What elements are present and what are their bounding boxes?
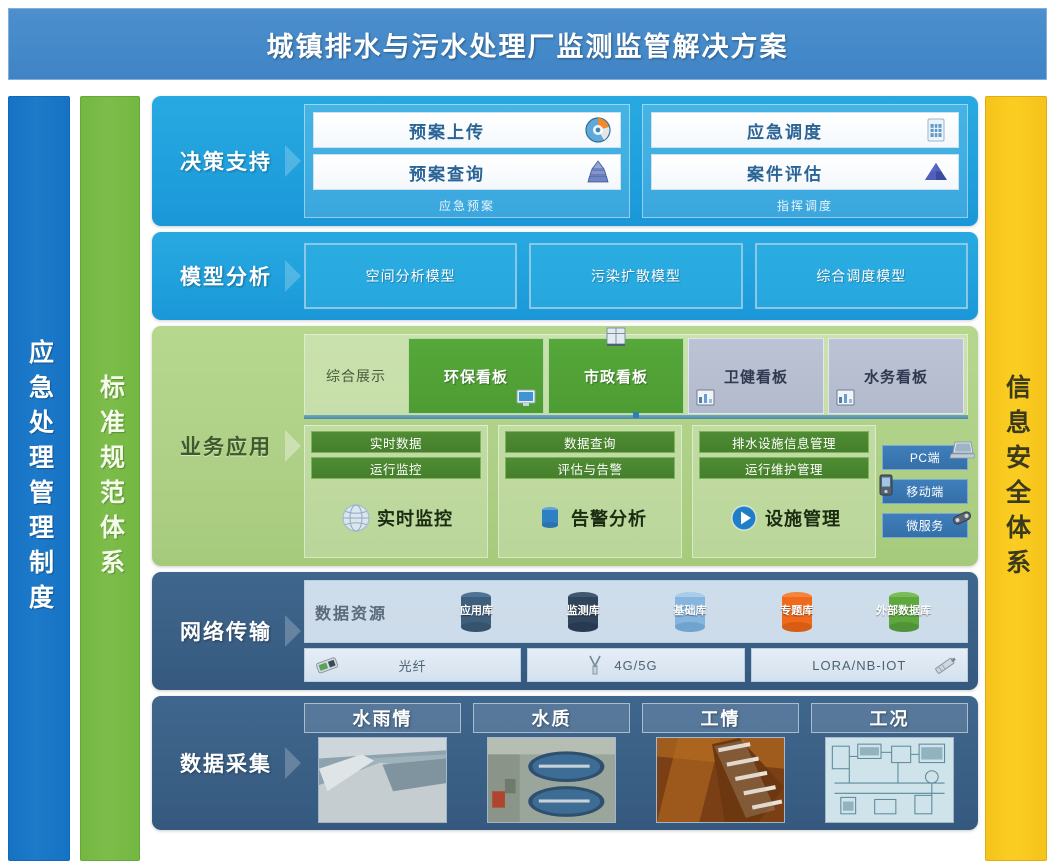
- business-feature-alarm-analysis[interactable]: 告警分析: [505, 483, 675, 552]
- decision-item-case-assessment-label: 案件评估: [747, 160, 823, 185]
- database-monitoring[interactable]: 监测库: [553, 588, 613, 636]
- business-chip-drainage-facility-info[interactable]: 排水设施信息管理: [699, 431, 869, 453]
- business-chip-operation-monitoring[interactable]: 运行监控: [311, 457, 481, 479]
- board-environment-label: 环保看板: [444, 366, 508, 387]
- terminal-mobile-label: 移动端: [906, 483, 944, 500]
- board-divider: [304, 415, 968, 419]
- acquisition-card-water-quality[interactable]: 水质: [473, 703, 630, 823]
- acquisition-card-engineering-label: 工情: [642, 703, 799, 733]
- database-external[interactable]: 外部数据库: [874, 588, 934, 636]
- database-thematic[interactable]: 专题库: [767, 588, 827, 636]
- media-cellular-label: 4G/5G: [614, 658, 657, 673]
- model-item-spatial-analysis[interactable]: 空间分析模型: [304, 243, 517, 309]
- board-environment[interactable]: 环保看板: [408, 338, 544, 414]
- business-column-realtime: 实时数据 运行监控: [304, 425, 488, 558]
- acquisition-card-hydrology[interactable]: 水雨情: [304, 703, 461, 823]
- media-fiber-label: 光纤: [399, 656, 427, 675]
- decision-item-emergency-dispatch-label: 应急调度: [747, 118, 823, 143]
- grid-table-icon: [922, 116, 950, 144]
- business-feature-realtime-monitoring-label: 实时监控: [377, 505, 453, 531]
- database-basic[interactable]: 基础库: [660, 588, 720, 636]
- board-water-affairs[interactable]: 水务看板: [828, 338, 964, 414]
- layer-network-transmission: 网络传输 数据资源 应用库: [152, 572, 978, 690]
- sensor-icon: [931, 653, 961, 677]
- layer-business-label: 业务应用: [152, 326, 300, 566]
- business-column-query: 数据查询 评估与告警 告警分析: [498, 425, 682, 558]
- business-feature-realtime-monitoring[interactable]: 实时监控: [311, 483, 481, 552]
- media-fiber[interactable]: 光纤: [304, 648, 521, 682]
- laptop-icon: [949, 439, 975, 461]
- scada-diagram-photo: [825, 737, 954, 823]
- data-resource-group: 数据资源 应用库: [304, 580, 968, 643]
- decision-group-emergency-plan: 预案上传: [304, 104, 630, 218]
- business-feature-facility-management-label: 设施管理: [765, 505, 841, 531]
- terminal-microservice[interactable]: 微服务: [882, 513, 968, 538]
- layer-acquisition-label: 数据采集: [152, 696, 300, 830]
- board-water-affairs-label: 水务看板: [864, 366, 928, 387]
- layer-model-analysis: 模型分析 空间分析模型 污染扩散模型 综合调度模型: [152, 232, 978, 320]
- acquisition-card-operating-condition-label: 工况: [811, 703, 968, 733]
- acquisition-card-operating-condition[interactable]: 工况: [811, 703, 968, 823]
- board-health[interactable]: 卫健看板: [688, 338, 824, 414]
- business-chip-data-query[interactable]: 数据查询: [505, 431, 675, 453]
- monitor-icon: [515, 388, 537, 408]
- media-lora-label: LORA/NB-IOT: [812, 658, 906, 673]
- sidebar-information-security-system: 信息安全体系: [985, 96, 1047, 861]
- media-cellular[interactable]: 4G/5G: [527, 648, 744, 682]
- business-feature-facility-management[interactable]: 设施管理: [699, 483, 869, 552]
- pyramid-light-icon: [584, 158, 612, 186]
- fiber-cable-icon: [313, 653, 343, 677]
- layer-stack: 决策支持 预案上传: [152, 96, 978, 861]
- business-chip-realtime-data[interactable]: 实时数据: [311, 431, 481, 453]
- mobile-icon: [873, 474, 899, 496]
- decision-item-case-assessment[interactable]: 案件评估: [651, 154, 959, 190]
- layer-decision-support: 决策支持 预案上传: [152, 96, 978, 226]
- sidebar-emergency-label: 应急处理管理制度: [26, 339, 53, 619]
- layer-decision-label: 决策支持: [152, 96, 300, 226]
- board-health-label: 卫健看板: [724, 366, 788, 387]
- chart-icon: [835, 388, 857, 408]
- database-basic-label: 基础库: [673, 605, 706, 618]
- river-channel-photo: [318, 737, 447, 823]
- terminal-mobile[interactable]: 移动端: [882, 479, 968, 504]
- sidebar-security-label: 信息安全体系: [1003, 374, 1030, 584]
- decision-item-emergency-dispatch[interactable]: 应急调度: [651, 112, 959, 148]
- layer-business-application: 业务应用 综合展示 环保看板: [152, 326, 978, 566]
- terminal-group: PC端 移动端: [882, 425, 968, 558]
- comprehensive-display-label: 综合展示: [308, 338, 404, 414]
- database-external-label: 外部数据库: [876, 605, 931, 618]
- acquisition-card-hydrology-label: 水雨情: [304, 703, 461, 733]
- phone-icon: [949, 507, 975, 529]
- layer-model-label: 模型分析: [152, 232, 300, 320]
- pyramid-dark-icon: [922, 158, 950, 186]
- play-circle-icon: [727, 501, 761, 535]
- model-item-pollution-diffusion[interactable]: 污染扩散模型: [529, 243, 742, 309]
- sidebar-standard-specification-system: 标准规范体系: [80, 96, 140, 861]
- sedimentation-tank-photo: [487, 737, 616, 823]
- business-feature-alarm-analysis-label: 告警分析: [571, 505, 647, 531]
- chart-icon: [695, 388, 717, 408]
- decision-item-plan-upload-label: 预案上传: [409, 118, 485, 143]
- business-column-facility: 排水设施信息管理 运行维护管理 设施管理: [692, 425, 876, 558]
- database-icon: [533, 501, 567, 535]
- terminal-pc[interactable]: PC端: [882, 445, 968, 470]
- terminal-microservice-label: 微服务: [906, 517, 944, 534]
- decision-item-plan-query-label: 预案查询: [409, 160, 485, 185]
- database-application[interactable]: 应用库: [446, 588, 506, 636]
- board-municipal[interactable]: 市政看板: [548, 338, 684, 414]
- antenna-icon: [580, 653, 610, 677]
- decision-item-plan-query[interactable]: 预案查询: [313, 154, 621, 190]
- decision-item-plan-upload[interactable]: 预案上传: [313, 112, 621, 148]
- pipeline-trench-photo: [656, 737, 785, 823]
- decision-group-command-dispatch-caption: 指挥调度: [651, 196, 959, 214]
- decision-group-command-dispatch: 应急调度: [642, 104, 968, 218]
- decision-group-emergency-plan-caption: 应急预案: [313, 196, 621, 214]
- layer-network-label: 网络传输: [152, 572, 300, 690]
- pie-chart-icon: [584, 116, 612, 144]
- database-application-label: 应用库: [460, 605, 493, 618]
- window-icon: [605, 327, 627, 347]
- globe-icon: [339, 501, 373, 535]
- diagram-canvas: 城镇排水与污水处理厂监测监管解决方案 应急处理管理制度 标准规范体系 信息安全体…: [0, 0, 1055, 868]
- sidebar-standard-label: 标准规范体系: [97, 374, 124, 584]
- title-banner: 城镇排水与污水处理厂监测监管解决方案: [8, 8, 1047, 80]
- data-resource-label: 数据资源: [315, 600, 419, 624]
- board-municipal-label: 市政看板: [584, 366, 648, 387]
- comprehensive-display-group: 综合展示 环保看板: [304, 334, 968, 418]
- model-item-integrated-dispatch[interactable]: 综合调度模型: [755, 243, 968, 309]
- terminal-pc-label: PC端: [910, 449, 940, 466]
- business-chip-operation-maintenance[interactable]: 运行维护管理: [699, 457, 869, 479]
- acquisition-card-engineering[interactable]: 工情: [642, 703, 799, 823]
- layer-data-acquisition: 数据采集 水雨情: [152, 696, 978, 830]
- database-monitoring-label: 监测库: [567, 605, 600, 618]
- media-lora[interactable]: LORA/NB-IOT: [751, 648, 968, 682]
- business-chip-assessment-alarm[interactable]: 评估与告警: [505, 457, 675, 479]
- acquisition-card-water-quality-label: 水质: [473, 703, 630, 733]
- database-thematic-label: 专题库: [780, 605, 813, 618]
- page-title: 城镇排水与污水处理厂监测监管解决方案: [267, 25, 789, 64]
- sidebar-emergency-management-system: 应急处理管理制度: [8, 96, 70, 861]
